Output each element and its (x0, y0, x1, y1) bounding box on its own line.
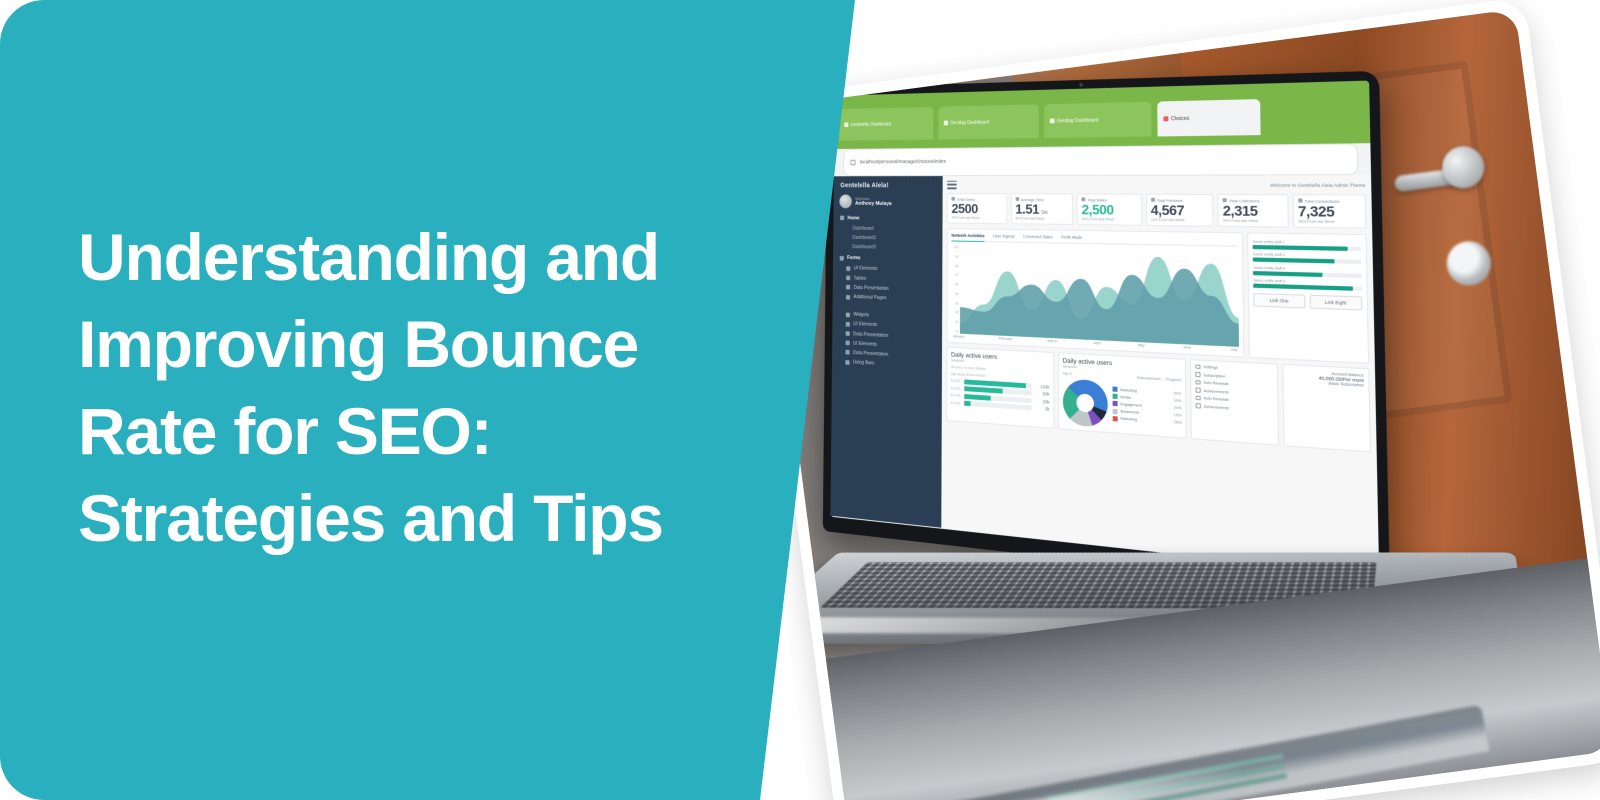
donut-legend: Marketing 30% Media 10% (1112, 387, 1181, 429)
sidebar-item-label: Forms (846, 256, 859, 262)
x-tick: January (952, 334, 963, 338)
laptop-lid: Gentelella Dashboard Gentlag Dashboard G… (822, 71, 1389, 595)
refresh-icon (1195, 380, 1200, 385)
sidebar-item-label: UI Elements (853, 266, 877, 272)
link-buttons: Link One Link Eight (1253, 294, 1362, 311)
kpi-unit: Sec (1040, 210, 1047, 216)
hamburger-icon[interactable] (947, 181, 957, 189)
daily-active-users-right-panel: Daily active users Sessions Top 5 Disbur… (1057, 352, 1186, 439)
tab-favicon-icon (1049, 119, 1054, 124)
kpi-card: Total Males 2,500 34% From last Week (1076, 193, 1141, 226)
user-name: Anthony Mulaya (854, 201, 890, 207)
title-line-2: Improving Bounce (78, 301, 758, 388)
chart-icon (845, 285, 849, 290)
plot-area (959, 245, 1238, 346)
tab-favicon-icon (943, 121, 947, 126)
brand-logo[interactable]: Gentelella Alela! (840, 182, 938, 189)
legend-swatch (1112, 416, 1117, 421)
kpi-sub: 34% From last Week (1297, 219, 1360, 224)
kpi-sub: 12% From last Week (1150, 218, 1208, 223)
kpi-value: 2500 (951, 201, 1002, 216)
y-axis: 100 90 80 70 60 50 40 30 (950, 245, 959, 333)
chart-icon (845, 350, 849, 355)
kpi-sub: 34% From last Week (1081, 217, 1136, 222)
legend-label: Marketing (1120, 417, 1137, 422)
chart-tabs: Network Activities User Signup Converted… (951, 233, 1238, 247)
donut-chart-wrap: Marketing 30% Media 10% (1062, 378, 1181, 433)
kpi-card: Total Collections 2,315 34% From last We… (1217, 194, 1288, 228)
daily-active-users-left-panel: Daily active users Sessions All users, n… (946, 347, 1054, 429)
legend-swatch (1112, 401, 1117, 406)
sidebar-item-label: Dashboard (852, 226, 873, 232)
usage-value: 23k (1034, 399, 1049, 405)
bars-icon (845, 360, 849, 365)
kpi-value: 7,325 (1297, 203, 1360, 220)
browser-tab[interactable]: Gentlag Dashboard (937, 105, 1038, 139)
legend-pct: 15% (1173, 413, 1181, 418)
legend-pct: 30% (1173, 391, 1181, 396)
entity-track (1252, 258, 1360, 265)
x-tick: April (1093, 341, 1100, 345)
settings-label: Subscription (1203, 373, 1225, 378)
url-text: localhost/personal/manage/choices/index (859, 159, 945, 165)
usage-value: 123k (1034, 384, 1049, 390)
browser-tab[interactable]: Gentlag Dashboard (1043, 102, 1151, 138)
sidebar-item-dashboard3[interactable]: Dashboard3 (837, 242, 938, 254)
y-tick: 100 (951, 245, 958, 249)
sidebar-user[interactable]: Welcome, Anthony Mulaya (839, 194, 938, 209)
settings-label: Achievements (1203, 404, 1228, 410)
legend-label: Marketing (1120, 388, 1137, 393)
x-tick: May (1137, 343, 1144, 347)
version-label: 6.1.9.2 (950, 379, 961, 384)
kpi-value: 2,500 (1081, 202, 1136, 218)
sidebar-item-label: Data Presentation (853, 285, 888, 292)
col-top5: Top 5 (1062, 371, 1071, 376)
sidebar-item-label: Dashboard2 (852, 235, 876, 241)
hero-banner: Gentelella Dashboard Gentlag Dashboard G… (0, 0, 1600, 800)
legend-pct: 20% (1173, 406, 1181, 411)
x-tick: February (998, 337, 1011, 342)
col-progress: Progress (1165, 377, 1181, 382)
settings-label: Auto Renewal (1203, 396, 1228, 402)
sidebar-item-label: Data Presentation (852, 350, 887, 358)
area-chart: 100 90 80 70 60 50 40 30 (950, 245, 1238, 347)
photo-plate: Gentelella Dashboard Gentlag Dashboard G… (741, 0, 1600, 800)
settings-label: Achievements (1203, 389, 1228, 395)
version-label: 6.1.9.4 (950, 394, 961, 399)
sidebar: Gentelella Alela! Welcome, Anthony Mulay… (830, 176, 942, 528)
col-disbursement: Disbursement (1136, 376, 1160, 381)
welcome-header: Welcome to Gentelella Alela Admin Theme (1269, 182, 1365, 187)
legend-swatch (1112, 387, 1117, 392)
sidebar-item-label: Widgets (853, 312, 869, 318)
tab-label: Gentlag Dashboard (1056, 117, 1097, 124)
y-tick: 80 (951, 264, 958, 268)
legend-label: Media (1120, 395, 1130, 400)
usage-value: 53k (1034, 391, 1049, 397)
home-icon (839, 216, 843, 221)
sidebar-item-label: UI Elements (853, 322, 877, 329)
pages-icon (845, 295, 849, 300)
layers-icon (845, 322, 849, 327)
entity-track (1252, 245, 1360, 251)
legend-swatch (1112, 394, 1117, 399)
entity-bar-row: Some entity stuff 3 (1253, 266, 1362, 278)
link-eight-button[interactable]: Link Eight (1309, 295, 1362, 311)
layers-icon (845, 341, 849, 346)
kpi-value: 4,567 (1150, 202, 1208, 218)
kpi-value: 2,315 (1222, 203, 1282, 219)
tab-network-activities[interactable]: Network Activities (951, 233, 984, 242)
kpi-sub: 34% From last Week (1222, 219, 1282, 224)
tab-converted-sales[interactable]: Converted Sales (1022, 234, 1052, 239)
y-tick: 70 (951, 273, 958, 277)
y-tick: 10 (950, 329, 957, 333)
sidebar-item-label: Dashboard3 (852, 245, 876, 251)
browser-url-bar[interactable]: localhost/personal/manage/choices/index (842, 144, 1357, 177)
layers-icon (846, 266, 850, 271)
tab-label: Choices (1170, 115, 1188, 121)
y-tick: 50 (951, 292, 958, 296)
kpi-row: Total Users 2500 4% From last Week Avera… (946, 193, 1366, 229)
refresh-icon (1195, 396, 1200, 401)
browser-tab[interactable]: Gentelella Dashboard (838, 107, 933, 140)
main-content: Welcome to Gentelella Alela Admin Theme … (941, 175, 1379, 576)
entity-bar-row: Some entity stuff 1 (1252, 240, 1360, 251)
tab-favicon-icon (1162, 116, 1167, 121)
widget-icon (845, 312, 849, 317)
sidebar-item-label: Tables (853, 275, 866, 281)
x-tick: March (1047, 339, 1057, 343)
kpi-sub: 3% From last Week (1015, 216, 1068, 220)
sidebar-item-label: Using Bars (852, 360, 874, 367)
settings-panel: Settings Subscription Auto Renewal (1190, 359, 1279, 446)
tab-favicon-icon (843, 123, 847, 128)
settings-label: Auto Renewal (1203, 381, 1228, 387)
laptop-screen: Gentelella Dashboard Gentlag Dashboard G… (830, 81, 1379, 576)
entity-stuff-panel: Some entity stuff 1 Some entity stuff 2 (1247, 232, 1369, 364)
table-icon (845, 276, 849, 281)
page-title: Understanding and Improving Bounce Rate … (78, 214, 758, 562)
sidebar-item-label: Home (847, 215, 859, 221)
webcam-icon (1078, 83, 1082, 87)
sidebar-item-home[interactable]: Home (839, 215, 937, 222)
kpi-sub: 4% From last Week (951, 216, 1002, 220)
y-tick: 60 (951, 283, 958, 287)
entity-bars: Some entity stuff 1 Some entity stuff 2 (1252, 240, 1361, 292)
laptop-photo: Gentelella Dashboard Gentlag Dashboard G… (754, 9, 1600, 800)
sidebar-item-label: Additional Pages (853, 294, 886, 301)
chart-row: Network Activities User Signup Converted… (946, 228, 1369, 364)
dollar-icon (1195, 372, 1200, 377)
x-tick: July (1230, 348, 1237, 353)
network-activities-panel: Network Activities User Signup Converted… (946, 228, 1244, 358)
y-tick: 90 (951, 255, 958, 259)
usage-value: 3k (1034, 406, 1049, 412)
kpi-card: Average Time 1.51Sec 3% From last Week (1010, 193, 1072, 225)
settings-list: Settings Subscription Auto Renewal (1195, 365, 1272, 414)
avatar (839, 194, 852, 208)
title-line-1: Understanding and (78, 214, 758, 301)
settings-label: Settings (1203, 365, 1217, 370)
area-series-svg (959, 245, 1238, 346)
entity-bar-row: Some entity stuff 2 (1252, 253, 1361, 265)
link-one-button[interactable]: Link One (1253, 294, 1305, 309)
lock-icon (850, 160, 855, 166)
title-line-4: Strategies and Tips (78, 475, 758, 562)
settings-item-achievements-2[interactable]: Achievements (1195, 404, 1272, 414)
tab-label: Gentelella Dashboard (850, 121, 891, 127)
y-tick: 30 (951, 311, 958, 315)
check-icon (1195, 388, 1200, 393)
sidebar-item-label: UI Elements (852, 341, 876, 348)
browser-tab-active[interactable]: Choices (1156, 99, 1260, 136)
sidebar-item-label: Data Presentation (852, 331, 887, 338)
entity-bar-row: Some entity stuff 4 (1253, 279, 1362, 292)
legend-swatch (1112, 408, 1117, 413)
version-label: 6.1.9.5 (950, 401, 961, 406)
kpi-card: Total Connections 7,325 34% From last We… (1292, 194, 1366, 229)
title-line-3: Rate for SEO: (78, 388, 758, 475)
chart-icon (845, 331, 849, 336)
form-icon (839, 256, 843, 261)
lower-row: Daily active users Sessions All users, n… (946, 347, 1371, 453)
y-tick: 40 (951, 301, 958, 305)
gear-icon (1195, 365, 1200, 370)
browser-chrome: Gentelella Dashboard Gentlag Dashboard G… (834, 81, 1370, 150)
version-label: 6.1.9.3 (950, 386, 961, 391)
legend-label: Awareness (1120, 409, 1139, 414)
app-topbar: Welcome to Gentelella Alela Admin Theme (947, 180, 1366, 189)
x-tick: June (1182, 345, 1190, 350)
check-icon (1195, 404, 1200, 409)
app-body: Gentelella Alela! Welcome, Anthony Mulay… (830, 175, 1379, 576)
account-balance-panel: Account Balance 40,000.00/Per mont Basic… (1281, 364, 1370, 453)
sidebar-item-forms[interactable]: Forms (839, 255, 937, 263)
legend-label: Engagement (1120, 402, 1142, 408)
legend-pct: 25% (1173, 421, 1181, 426)
donut-chart (1062, 378, 1107, 427)
kpi-card: Total Users 2500 4% From last Week (946, 193, 1006, 224)
y-tick: 20 (950, 320, 957, 324)
kpi-value: 1.51Sec (1015, 202, 1068, 217)
tab-label: Gentlag Dashboard (950, 119, 989, 125)
tab-profit-made[interactable]: Profit Made (1061, 235, 1082, 240)
legend-pct: 10% (1173, 398, 1181, 403)
kpi-card: Total Previews 4,567 12% From last Week (1145, 193, 1213, 226)
tab-user-signup[interactable]: User Signup (992, 234, 1014, 239)
